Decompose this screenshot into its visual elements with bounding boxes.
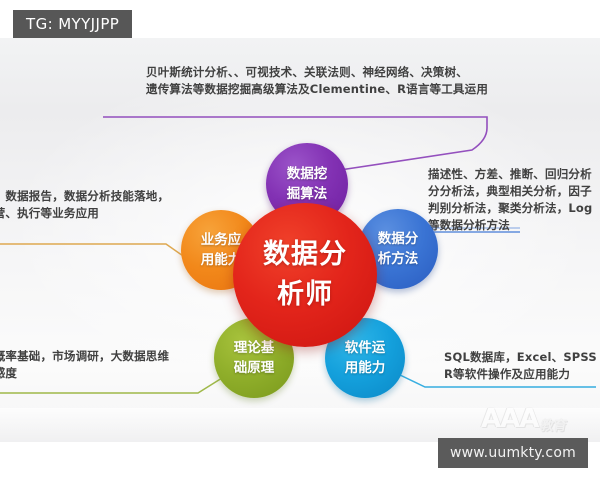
- watermark-mark: AAA: [481, 404, 538, 434]
- note-right-line3: 判别分析法，聚类分析法，Log: [428, 200, 592, 217]
- node-data-mining-algorithm-line2: 掘算法: [287, 184, 328, 204]
- node-data-analysis-method-line2: 析方法: [378, 249, 419, 269]
- node-software-skill-line1: 软件运: [345, 338, 386, 358]
- node-data-analysis-method-line1: 数据分: [378, 229, 419, 249]
- watermark: AAA 教育: [481, 404, 567, 434]
- note-right-line4: 等数据分析方法: [428, 217, 592, 234]
- note-bottom-right-line1: SQL数据库，Excel、SPSS: [444, 349, 597, 366]
- note-bottom-left: 学概率基础，市场调研，大数据思维 敏感度: [0, 348, 169, 382]
- note-right-line2: 分分析法，典型相关分析，因子: [428, 183, 592, 200]
- note-top-line1: 贝叶斯统计分析、、可视技术、关联法则、神经网络、决策树、: [146, 64, 488, 81]
- tg-handle-tag: TG: MYYJJPP: [13, 10, 132, 38]
- node-data-mining-algorithm-line1: 数据挖: [287, 164, 328, 184]
- note-bottom-left-line2: 敏感度: [0, 365, 169, 382]
- note-top: 贝叶斯统计分析、、可视技术、关联法则、神经网络、决策树、 遗传算法等数据挖掘高级…: [146, 64, 488, 98]
- node-theory-foundation-line1: 理论基: [234, 338, 275, 358]
- node-theory-foundation-line2: 础原理: [234, 358, 275, 378]
- watermark-label: 教育: [540, 415, 569, 434]
- note-left-line2: 运营、执行等业务应用: [0, 205, 169, 222]
- note-bottom-left-line1: 学概率基础，市场调研，大数据思维: [0, 348, 169, 365]
- note-right-line1: 描述性、方差、推断、回归分析: [428, 166, 592, 183]
- note-bottom-right-line2: R等软件操作及应用能力: [444, 366, 597, 383]
- note-left: 作，数据报告，数据分析技能落地， 运营、执行等业务应用: [0, 188, 169, 222]
- node-center-data-analyst: 数据分 析师: [233, 203, 377, 347]
- screenshot-root: 贝叶斯统计分析、、可视技术、关联法则、神经网络、决策树、 遗传算法等数据挖掘高级…: [0, 0, 600, 480]
- note-left-line1: 作，数据报告，数据分析技能落地，: [0, 188, 169, 205]
- note-top-line2: 遗传算法等数据挖掘高级算法及Clementine、R语言等工具运用: [146, 81, 488, 98]
- node-business-application-line1: 业务应: [201, 230, 242, 250]
- node-center-line2: 析师: [277, 275, 333, 315]
- node-software-skill-line2: 用能力: [345, 358, 386, 378]
- site-url-tag: www.uumkty.com: [438, 438, 588, 468]
- note-right: 描述性、方差、推断、回归分析 分分析法，典型相关分析，因子 判别分析法，聚类分析…: [428, 166, 592, 234]
- node-center-line1: 数据分: [263, 235, 347, 275]
- note-bottom-right: SQL数据库，Excel、SPSS R等软件操作及应用能力: [444, 349, 597, 383]
